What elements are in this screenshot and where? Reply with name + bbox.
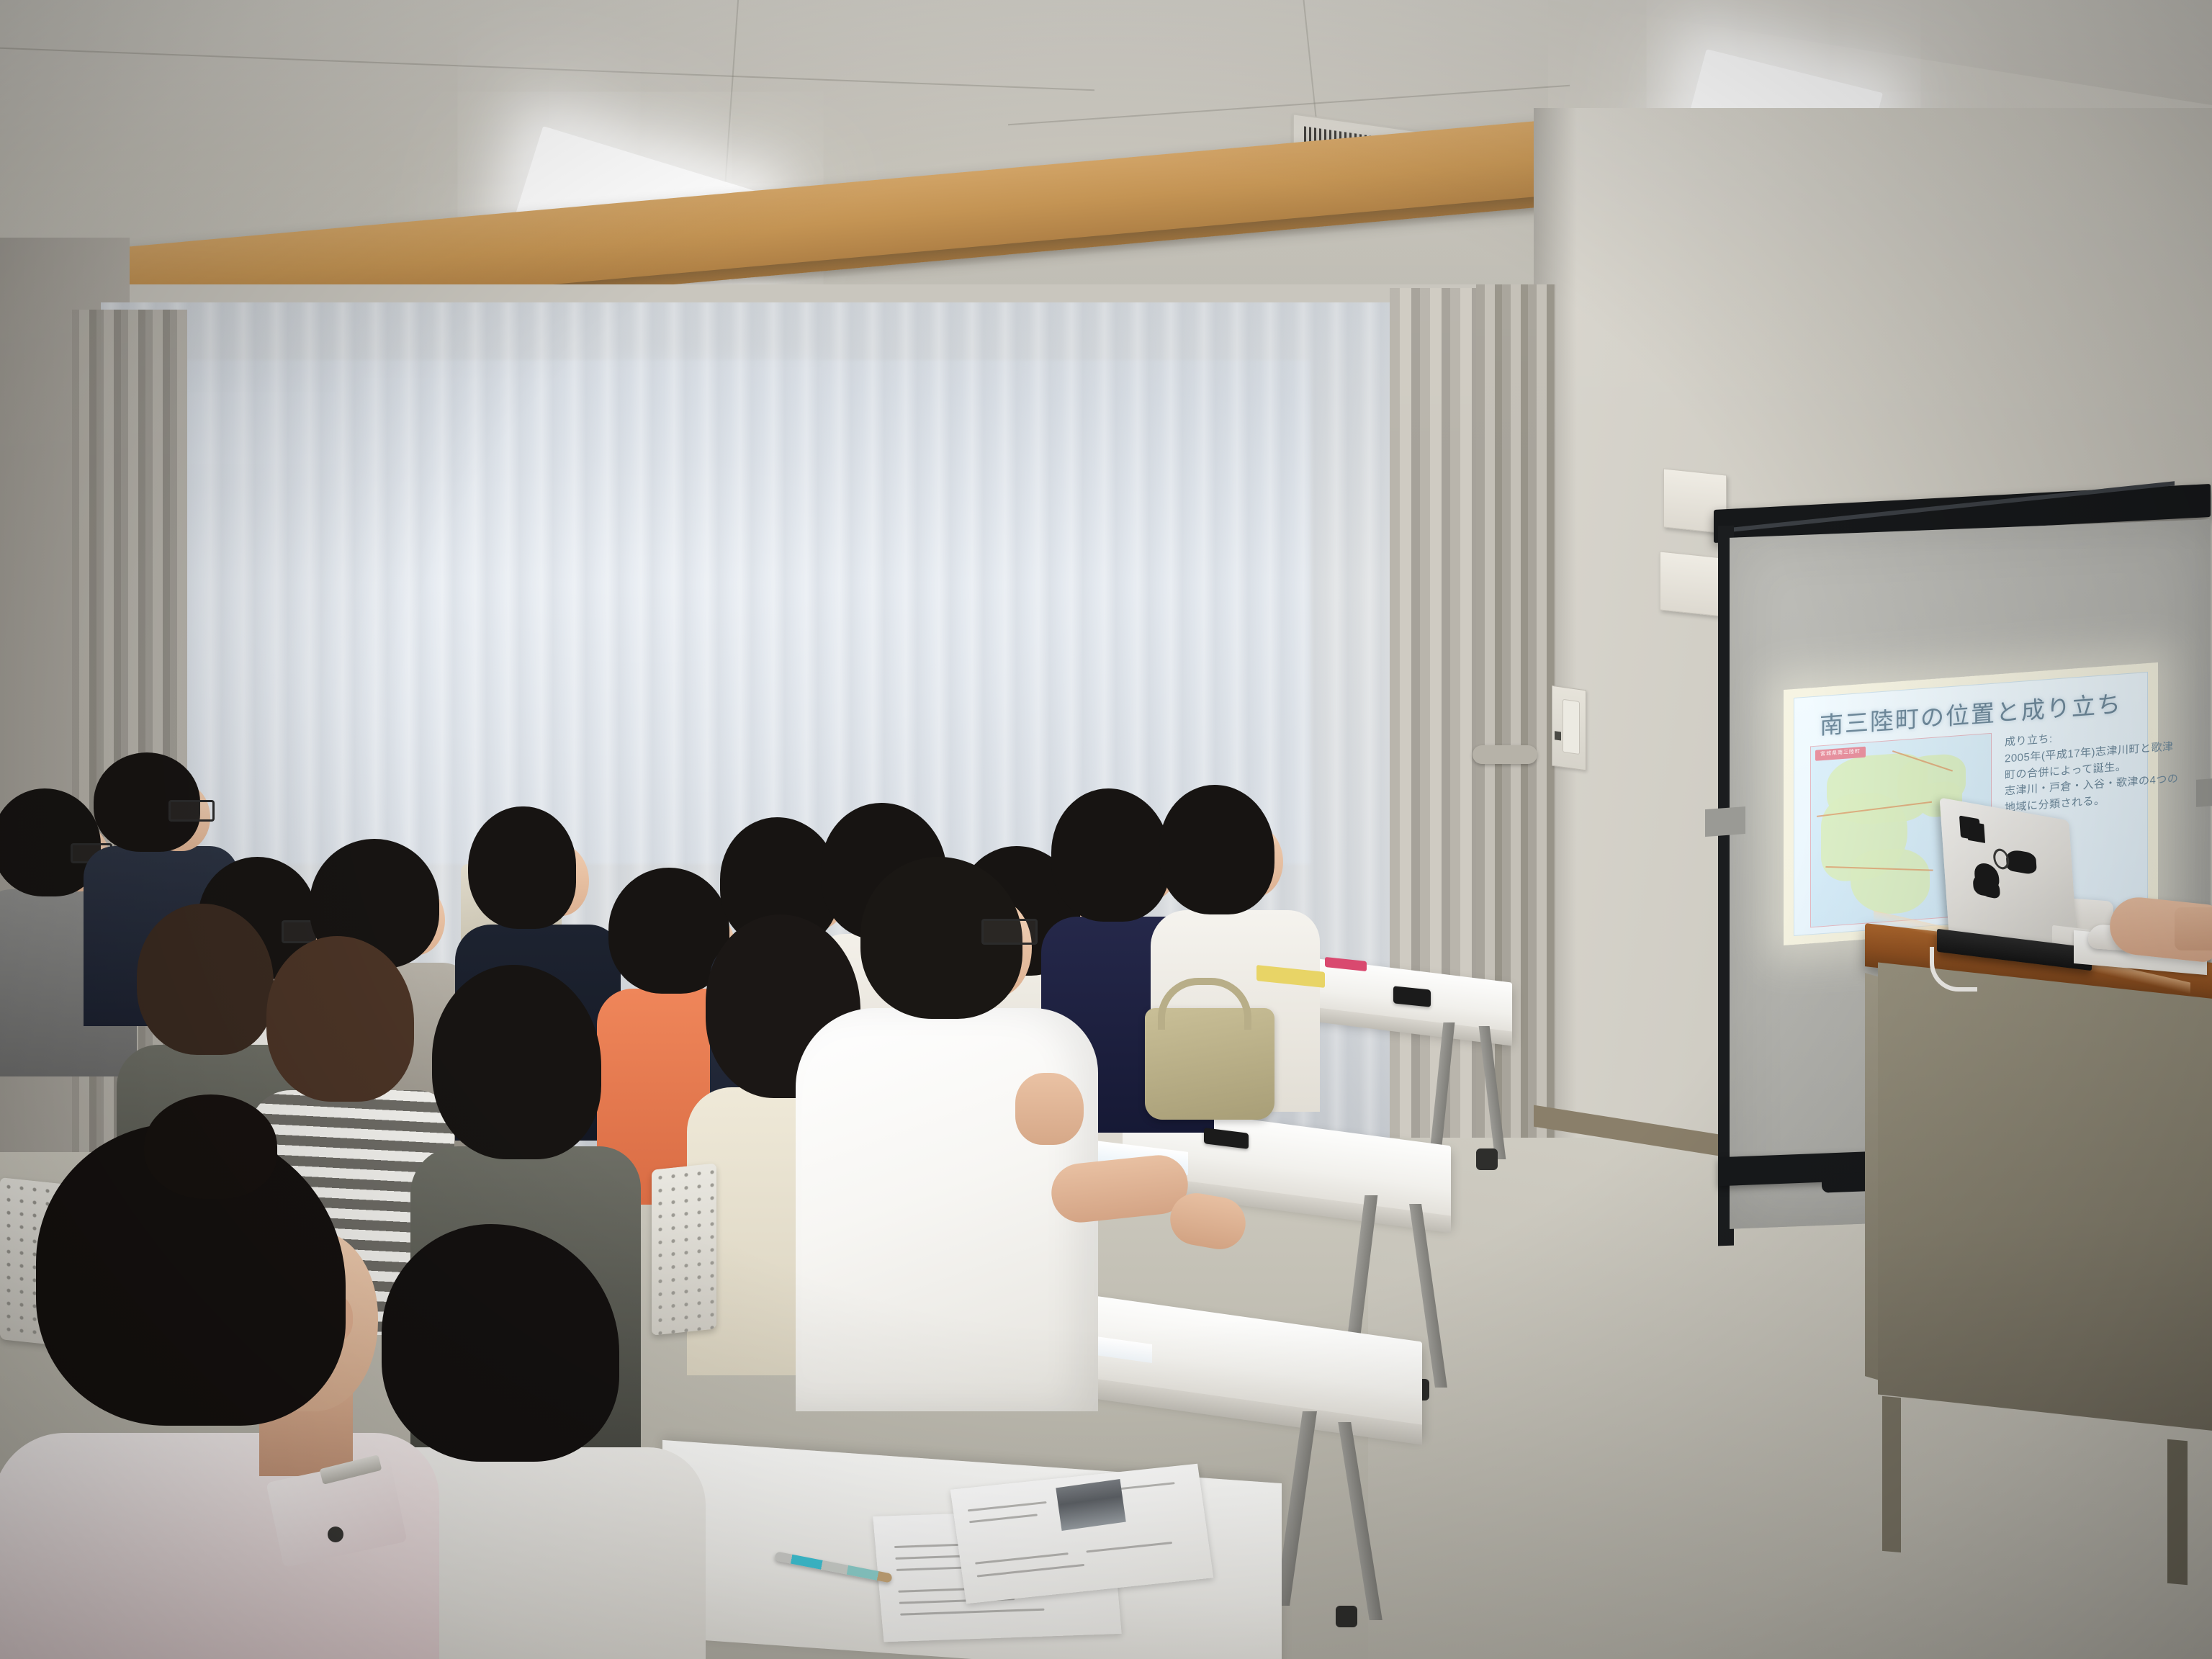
classroom-scene: 南三陸町の位置と成り立ち 宮城県南三陸町 [0, 0, 2212, 1659]
student-hair [1159, 785, 1274, 914]
switch-rocker[interactable] [1563, 699, 1580, 755]
teacher-desk [1865, 943, 2212, 1577]
screen-side-tab-right [2196, 777, 2212, 807]
wall-light-switch[interactable] [1552, 685, 1586, 771]
presenter-forearm [2175, 907, 2212, 950]
desk-front-panel [1878, 962, 2212, 1431]
student-hair [1051, 788, 1170, 922]
student-hair [468, 806, 576, 929]
switch-indicator-icon [1555, 731, 1561, 740]
square-sticker-icon [1959, 815, 1981, 840]
eyeglasses-icon [981, 919, 1038, 945]
handout-photo [1056, 1479, 1125, 1531]
khaki-tote-bag [1145, 1008, 1274, 1120]
man-fist [1015, 1073, 1084, 1145]
screen-side-tab-left [1705, 806, 1745, 837]
map-label-text: 宮城県南三陸町 [1815, 747, 1866, 758]
ring-sticker-icon [1992, 848, 2010, 871]
eyeglasses-icon [168, 800, 215, 822]
shirt-button-icon [328, 1527, 343, 1542]
desk-leg [2167, 1439, 2188, 1585]
table-caster [1336, 1606, 1357, 1627]
dog-sticker-icon [2005, 848, 2037, 876]
map-landmass [1851, 846, 1930, 917]
table-caster [1476, 1148, 1498, 1170]
curtain-tieback[interactable] [1473, 745, 1537, 764]
chair-middle[interactable] [652, 1163, 716, 1335]
desk-leg [1882, 1396, 1901, 1552]
man-torso [796, 1008, 1098, 1411]
woman-hair-bun [144, 1094, 277, 1199]
student-hair [137, 904, 274, 1055]
slide-body-text: 成り立ち: 2005年(平成17年)志津川町と歌津 町の合併によって誕生。 志津… [2005, 724, 2159, 817]
